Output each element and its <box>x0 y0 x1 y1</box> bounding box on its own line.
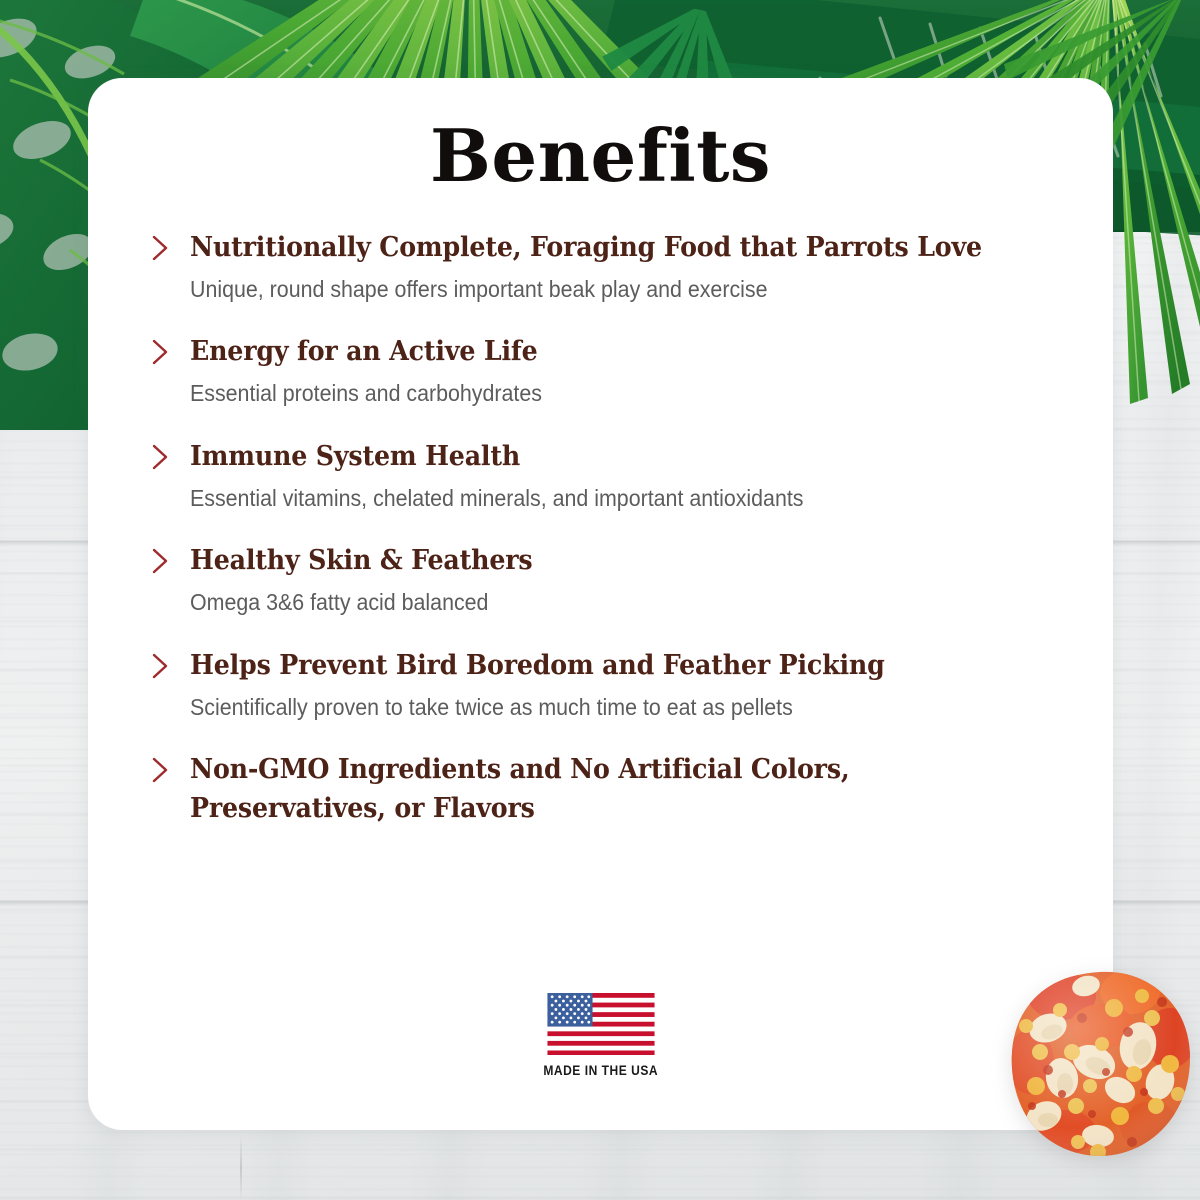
benefit-item: Immune System Health Essential vitamins,… <box>140 437 1061 516</box>
made-in-usa-caption: MADE IN THE USA <box>543 1062 658 1078</box>
chevron-right-icon <box>150 338 172 366</box>
chevron-right-icon <box>150 652 172 680</box>
benefit-item: Helps Prevent Bird Boredom and Feather P… <box>140 646 1061 725</box>
benefit-item: Energy for an Active Life Essential prot… <box>140 332 1061 411</box>
benefit-heading: Immune System Health <box>190 437 991 476</box>
chevron-right-icon <box>150 756 172 784</box>
benefits-card: Benefits Nutritionally Complete, Foragin… <box>88 78 1113 1130</box>
chevron-right-icon <box>150 234 172 262</box>
plank-joint <box>240 1136 242 1200</box>
benefits-list: Nutritionally Complete, Foraging Food th… <box>140 228 1061 829</box>
benefit-subtext: Essential proteins and carbohydrates <box>190 376 1000 411</box>
benefit-heading: Non-GMO Ingredients and No Artificial Co… <box>190 750 991 828</box>
benefit-heading: Healthy Skin & Feathers <box>190 541 991 580</box>
benefit-subtext: Scientifically proven to take twice as m… <box>190 690 1000 725</box>
benefit-item: Nutritionally Complete, Foraging Food th… <box>140 228 1061 307</box>
benefit-item: Healthy Skin & Feathers Omega 3&6 fatty … <box>140 541 1061 620</box>
benefit-item: Non-GMO Ingredients and No Artificial Co… <box>140 750 1061 828</box>
bird-food-ball-icon <box>1002 966 1198 1162</box>
benefit-subtext: Essential vitamins, chelated minerals, a… <box>190 481 1000 516</box>
made-in-usa-badge: MADE IN THE USA <box>88 993 1113 1078</box>
chevron-right-icon <box>150 443 172 471</box>
benefit-heading: Energy for an Active Life <box>190 332 991 371</box>
benefit-subtext: Omega 3&6 fatty acid balanced <box>190 585 1000 620</box>
chevron-right-icon <box>150 547 172 575</box>
usa-flag-icon <box>547 993 655 1055</box>
benefit-heading: Helps Prevent Bird Boredom and Feather P… <box>190 646 991 685</box>
page-title: Benefits <box>88 118 1113 194</box>
benefit-subtext: Unique, round shape offers important bea… <box>190 272 1000 307</box>
benefit-heading: Nutritionally Complete, Foraging Food th… <box>190 228 991 267</box>
